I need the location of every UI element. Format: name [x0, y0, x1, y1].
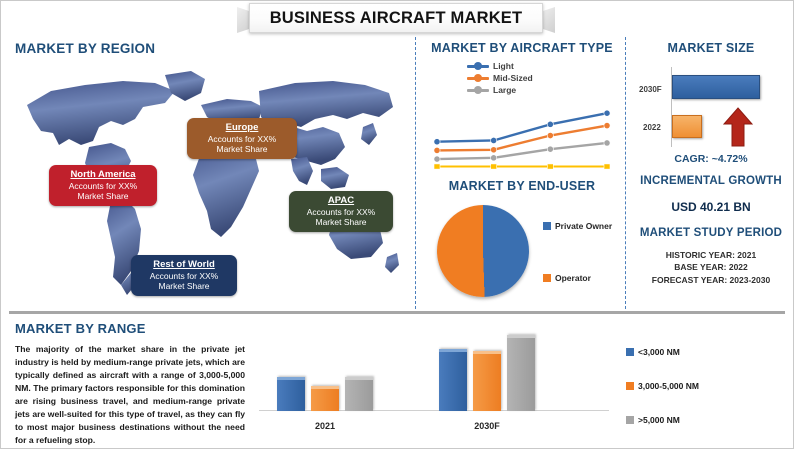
range-bar-2030f-gt5000: [507, 335, 535, 411]
divider-vertical-right: [625, 37, 626, 309]
range-legend-swatch-gt5000-icon: [626, 416, 634, 424]
callout-north-america-line2: Market Share: [55, 191, 151, 201]
market-by-range-title: MARKET BY RANGE: [15, 321, 146, 336]
pie-legend-swatch-operator-icon: [543, 274, 551, 282]
legend-marker-mid-sized-icon: [467, 77, 489, 80]
legend-label-light: Light: [493, 61, 514, 71]
divider-vertical-left: [415, 37, 416, 309]
range-legend-item-lt3000[interactable]: <3,000 NM: [626, 347, 699, 357]
legend-item-mid-sized[interactable]: Mid-Sized: [467, 73, 533, 83]
legend-marker-large-icon: [467, 89, 489, 92]
legend-item-large[interactable]: Large: [467, 85, 533, 95]
callout-rest-of-world[interactable]: Rest of World Accounts for XX% Market Sh…: [131, 255, 237, 296]
callout-rest-of-world-line2: Market Share: [137, 281, 231, 291]
market-study-period-lines: HISTORIC YEAR: 2021 BASE YEAR: 2022 FORE…: [629, 249, 793, 286]
divider-horizontal: [9, 311, 785, 314]
pie-legend-label-operator: Operator: [555, 273, 591, 283]
cagr-value: CAGR: ~4.72%: [629, 153, 793, 165]
page-title: BUSINESS AIRCRAFT MARKET: [270, 9, 523, 28]
callout-north-america-title: North America: [55, 169, 151, 180]
ribbon-fold-right-icon: [541, 7, 555, 33]
aircraft-type-line-chart: [431, 103, 617, 173]
pie-legend-item-operator[interactable]: Operator: [543, 273, 591, 283]
range-category-2030f: 2030F: [439, 421, 535, 431]
market-by-end-user-panel: MARKET BY END-USER Private Owner Operato…: [419, 177, 625, 309]
market-by-range-panel: MARKET BY RANGE The majority of the mark…: [1, 317, 794, 448]
study-base-year: BASE YEAR: 2022: [629, 261, 793, 273]
legend-label-mid-sized: Mid-Sized: [493, 73, 533, 83]
range-legend-label-3000-5000: 3,000-5,000 NM: [638, 381, 699, 391]
range-legend-label-lt3000: <3,000 NM: [638, 347, 680, 357]
range-legend-item-gt5000[interactable]: >5,000 NM: [626, 415, 699, 425]
study-forecast-year: FORECAST YEAR: 2023-2030: [629, 274, 793, 286]
infographic-page: BUSINESS AIRCRAFT MARKET MARKET BY REGIO…: [0, 0, 794, 449]
market-study-period-title: MARKET STUDY PERIOD: [629, 227, 793, 239]
range-bar-2021-lt3000: [277, 377, 305, 411]
title-ribbon: BUSINESS AIRCRAFT MARKET: [249, 3, 543, 33]
incremental-growth-title: INCREMENTAL GROWTH: [629, 175, 793, 187]
callout-apac-line1: Accounts for XX%: [295, 207, 387, 217]
market-size-category-2022: 2022: [643, 123, 661, 132]
callout-europe-line1: Accounts for XX%: [193, 134, 291, 144]
title-banner: BUSINESS AIRCRAFT MARKET: [237, 3, 555, 36]
study-historic-year: HISTORIC YEAR: 2021: [629, 249, 793, 261]
market-size-bar-2022: [672, 115, 702, 138]
range-bar-2030f-3000-5000: [473, 351, 501, 411]
legend-marker-light-icon: [467, 65, 489, 68]
callout-north-america-line1: Accounts for XX%: [55, 181, 151, 191]
market-size-bar-chart: 2030F 2022: [637, 63, 785, 149]
range-bar-2030f-lt3000: [439, 349, 467, 411]
market-by-region-title: MARKET BY REGION: [15, 41, 155, 56]
callout-rest-of-world-title: Rest of World: [137, 259, 231, 270]
market-by-aircraft-type-title: MARKET BY AIRCRAFT TYPE: [419, 41, 625, 55]
aircraft-type-legend: Light Mid-Sized Large: [467, 61, 533, 95]
incremental-growth-value: USD 40.21 BN: [629, 200, 793, 214]
range-legend-swatch-lt3000-icon: [626, 348, 634, 356]
legend-item-light[interactable]: Light: [467, 61, 533, 71]
callout-europe-line2: Market Share: [193, 144, 291, 154]
callout-apac-title: APAC: [295, 195, 387, 206]
range-legend-swatch-3000-5000-icon: [626, 382, 634, 390]
pie-legend-item-private-owner[interactable]: Private Owner: [543, 221, 612, 231]
market-by-region-panel: MARKET BY REGION: [1, 37, 413, 309]
market-size-category-2030f: 2030F: [639, 85, 662, 94]
market-size-panel: MARKET SIZE 2030F 2022 CAGR: ~4.72% INCR…: [629, 37, 793, 309]
legend-label-large: Large: [493, 85, 516, 95]
range-legend-item-3000-5000[interactable]: 3,000-5,000 NM: [626, 381, 699, 391]
callout-rest-of-world-line1: Accounts for XX%: [137, 271, 231, 281]
pie-legend-label-private-owner: Private Owner: [555, 221, 612, 231]
market-by-range-bar-chart: 2021 2030F: [259, 333, 609, 433]
market-size-title: MARKET SIZE: [629, 41, 793, 55]
pie-legend-swatch-private-owner-icon: [543, 222, 551, 230]
range-legend-label-gt5000: >5,000 NM: [638, 415, 680, 425]
aircraft-type-line-chart-svg: [431, 103, 617, 173]
callout-europe[interactable]: Europe Accounts for XX% Market Share: [187, 118, 297, 159]
callout-apac[interactable]: APAC Accounts for XX% Market Share: [289, 191, 393, 232]
range-legend: <3,000 NM 3,000-5,000 NM >5,000 NM: [626, 347, 699, 449]
market-by-range-description: The majority of the market share in the …: [15, 343, 245, 448]
callout-europe-title: Europe: [193, 122, 291, 133]
market-by-aircraft-type-panel: MARKET BY AIRCRAFT TYPE Light Mid-Sized …: [419, 37, 625, 177]
range-category-2021: 2021: [277, 421, 373, 431]
growth-arrow-up-icon: [723, 107, 753, 147]
market-size-bar-2030f: [672, 75, 760, 99]
callout-north-america[interactable]: North America Accounts for XX% Market Sh…: [49, 165, 157, 206]
range-bar-2021-3000-5000: [311, 386, 339, 411]
end-user-pie-chart[interactable]: [437, 205, 529, 297]
range-bar-2021-gt5000: [345, 377, 373, 411]
callout-apac-line2: Market Share: [295, 217, 387, 227]
market-by-end-user-title: MARKET BY END-USER: [419, 179, 625, 193]
